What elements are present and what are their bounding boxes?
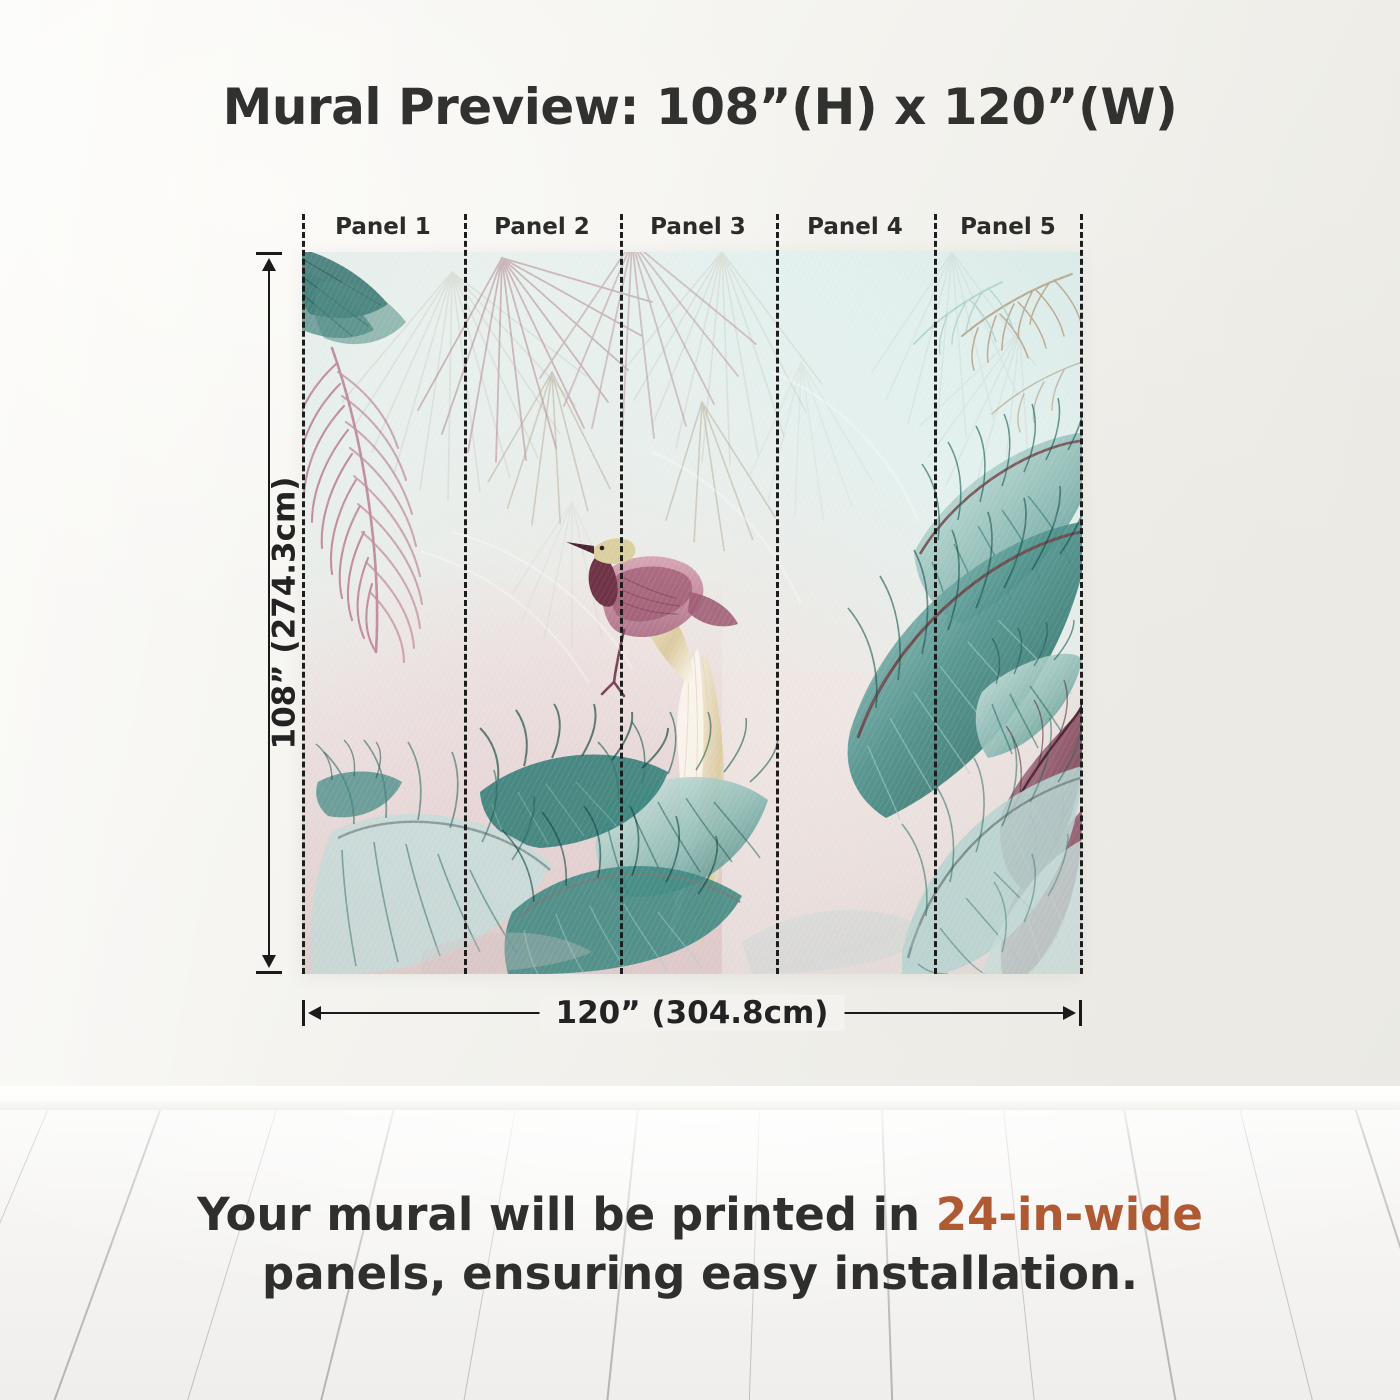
width-dimension-arrow: 120” (304.8cm) <box>302 1000 1082 1026</box>
height-dimension-label: 108” (274.3cm) <box>266 477 302 750</box>
panel-divider-3 <box>776 214 779 974</box>
mural-preview-area: Panel 1 Panel 2 Panel 3 Panel 4 Panel 5 <box>302 252 1082 974</box>
width-cap-left <box>302 1000 305 1026</box>
width-arrowhead-left-icon <box>308 1006 321 1020</box>
mural-artwork <box>302 252 1082 974</box>
height-cap-bottom <box>256 971 282 974</box>
panel-divider-5 <box>1080 214 1083 974</box>
height-arrowhead-down-icon <box>262 955 276 968</box>
width-dimension-label: 120” (304.8cm) <box>540 995 845 1031</box>
footer-line-1: Your mural will be printed in 24-in-wide <box>0 1186 1400 1245</box>
panel-divider-4 <box>934 214 937 974</box>
panel-label-5: Panel 5 <box>934 214 1082 240</box>
footer-line-1-prefix: Your mural will be printed in <box>197 1188 936 1241</box>
leaf-top-left-teal <box>302 252 406 344</box>
page-title: Mural Preview: 108”(H) x 120”(W) <box>0 78 1400 136</box>
panel-label-4: Panel 4 <box>776 214 934 240</box>
footer-line-2: panels, ensuring easy installation. <box>0 1245 1400 1304</box>
panel-label-3: Panel 3 <box>620 214 776 240</box>
panel-label-2: Panel 2 <box>464 214 620 240</box>
footer-caption: Your mural will be printed in 24-in-wide… <box>0 1186 1400 1303</box>
panel-divider-1 <box>464 214 467 974</box>
mural-preview-screenshot: Mural Preview: 108”(H) x 120”(W) 108” (2… <box>0 0 1400 1400</box>
panel-divider-0 <box>302 214 305 974</box>
panel-divider-2 <box>620 214 623 974</box>
width-arrowhead-right-icon <box>1063 1006 1076 1020</box>
width-cap-right <box>1079 1000 1082 1026</box>
baseboard <box>0 1086 1400 1110</box>
height-dimension-arrow: 108” (274.3cm) <box>256 252 282 974</box>
height-arrowhead-up-icon <box>262 258 276 271</box>
mural-artwork-illustration <box>302 252 1082 974</box>
height-cap-top <box>256 252 282 255</box>
panel-label-1: Panel 1 <box>302 214 464 240</box>
footer-line-1-highlight: 24-in-wide <box>936 1188 1203 1241</box>
